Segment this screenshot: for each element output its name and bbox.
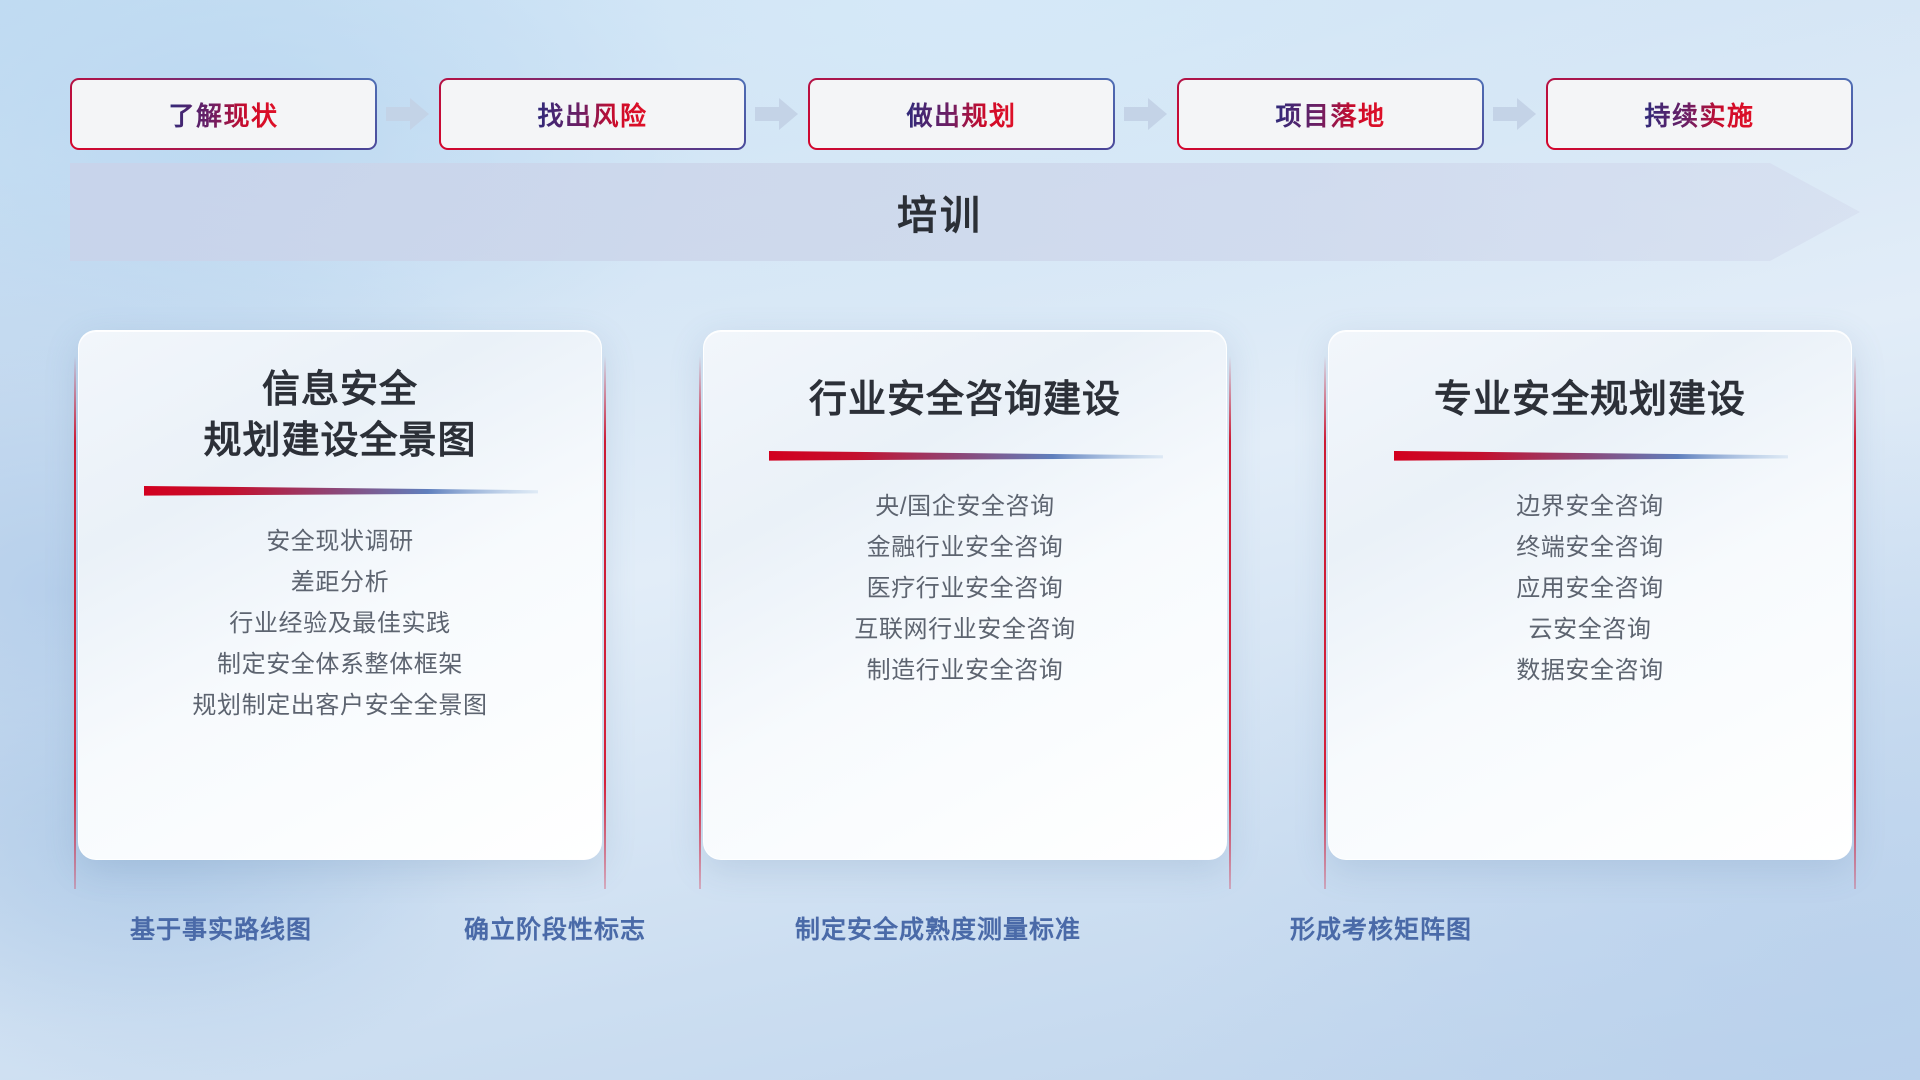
caption-row: 基于事实路线图确立阶段性标志制定安全成熟度测量标准形成考核矩阵图 xyxy=(70,910,1860,960)
list-item: 央/国企安全咨询 xyxy=(734,486,1196,527)
card-body: 信息安全 规划建设全景图安全现状调研差距分析行业经验及最佳实践制定安全体系整体框… xyxy=(78,330,602,860)
tapered-gradient-rule-icon xyxy=(142,483,538,499)
list-item: 数据安全咨询 xyxy=(1359,650,1821,691)
banner-title: 培训 xyxy=(70,163,1860,261)
caption-1: 基于事实路线图 xyxy=(130,910,312,946)
chevron-right-block-icon xyxy=(755,97,799,131)
step-box-5[interactable]: 持续实施 xyxy=(1546,78,1853,150)
card-title: 专业安全规划建设 xyxy=(1434,375,1746,426)
tapered-gradient-rule-icon xyxy=(767,448,1163,464)
card-body: 行业安全咨询建设央/国企安全咨询金融行业安全咨询医疗行业安全咨询互联网行业安全咨… xyxy=(703,330,1227,860)
card-body: 专业安全规划建设边界安全咨询终端安全咨询应用安全咨询云安全咨询数据安全咨询 xyxy=(1328,330,1852,860)
step-arrow-2 xyxy=(746,92,808,136)
card-divider xyxy=(142,483,538,499)
caption-3: 制定安全成熟度测量标准 xyxy=(795,910,1081,946)
training-banner: 培训 xyxy=(70,163,1860,261)
card-accent-rail-left xyxy=(699,356,701,889)
list-item: 差距分析 xyxy=(109,562,571,603)
step-box-2[interactable]: 找出风险 xyxy=(439,78,746,150)
list-item: 互联网行业安全咨询 xyxy=(734,609,1196,650)
card-title: 信息安全 规划建设全景图 xyxy=(203,365,476,467)
card-item-list: 央/国企安全咨询金融行业安全咨询医疗行业安全咨询互联网行业安全咨询制造行业安全咨… xyxy=(734,486,1196,691)
list-item: 终端安全咨询 xyxy=(1359,527,1821,568)
chevron-right-block-icon xyxy=(386,97,430,131)
card-1[interactable]: 信息安全 规划建设全景图安全现状调研差距分析行业经验及最佳实践制定安全体系整体框… xyxy=(70,330,610,875)
list-item: 规划制定出客户安全全景图 xyxy=(109,685,571,726)
list-item: 安全现状调研 xyxy=(109,521,571,562)
card-title: 行业安全咨询建设 xyxy=(809,375,1121,426)
step-arrow-3 xyxy=(1115,92,1177,136)
card-divider xyxy=(767,448,1163,464)
list-item: 医疗行业安全咨询 xyxy=(734,568,1196,609)
card-divider xyxy=(1392,448,1788,464)
card-accent-rail-right xyxy=(1229,356,1231,889)
caption-2: 确立阶段性标志 xyxy=(464,910,646,946)
step-arrow-4 xyxy=(1484,92,1546,136)
step-label: 做出规划 xyxy=(906,96,1016,133)
card-3[interactable]: 专业安全规划建设边界安全咨询终端安全咨询应用安全咨询云安全咨询数据安全咨询 xyxy=(1320,330,1860,875)
list-item: 边界安全咨询 xyxy=(1359,486,1821,527)
chevron-right-block-icon xyxy=(1493,97,1537,131)
card-accent-rail-left xyxy=(74,356,76,889)
step-arrow-1 xyxy=(377,92,439,136)
tapered-gradient-rule-icon xyxy=(1392,448,1788,464)
caption-4: 形成考核矩阵图 xyxy=(1290,910,1472,946)
card-row: 信息安全 规划建设全景图安全现状调研差距分析行业经验及最佳实践制定安全体系整体框… xyxy=(70,330,1860,875)
list-item: 行业经验及最佳实践 xyxy=(109,603,571,644)
step-box-1[interactable]: 了解现状 xyxy=(70,78,377,150)
process-step-flow: 了解现状找出风险做出规划项目落地持续实施 xyxy=(70,78,1860,150)
list-item: 云安全咨询 xyxy=(1359,609,1821,650)
list-item: 制造行业安全咨询 xyxy=(734,650,1196,691)
list-item: 金融行业安全咨询 xyxy=(734,527,1196,568)
card-accent-rail-right xyxy=(1854,356,1856,889)
list-item: 制定安全体系整体框架 xyxy=(109,644,571,685)
card-accent-rail-left xyxy=(1324,356,1326,889)
card-item-list: 安全现状调研差距分析行业经验及最佳实践制定安全体系整体框架规划制定出客户安全全景… xyxy=(109,521,571,726)
card-2[interactable]: 行业安全咨询建设央/国企安全咨询金融行业安全咨询医疗行业安全咨询互联网行业安全咨… xyxy=(695,330,1235,875)
card-accent-rail-right xyxy=(604,356,606,889)
chevron-right-block-icon xyxy=(1124,97,1168,131)
slide-canvas: 了解现状找出风险做出规划项目落地持续实施 培训 信息安全 规划建设全景图安全现状… xyxy=(0,0,1920,1080)
step-label: 持续实施 xyxy=(1644,96,1754,133)
step-label: 找出风险 xyxy=(537,96,647,133)
list-item: 应用安全咨询 xyxy=(1359,568,1821,609)
step-label: 项目落地 xyxy=(1275,96,1385,133)
step-label: 了解现状 xyxy=(168,96,278,133)
step-box-3[interactable]: 做出规划 xyxy=(808,78,1115,150)
card-item-list: 边界安全咨询终端安全咨询应用安全咨询云安全咨询数据安全咨询 xyxy=(1359,486,1821,691)
step-box-4[interactable]: 项目落地 xyxy=(1177,78,1484,150)
